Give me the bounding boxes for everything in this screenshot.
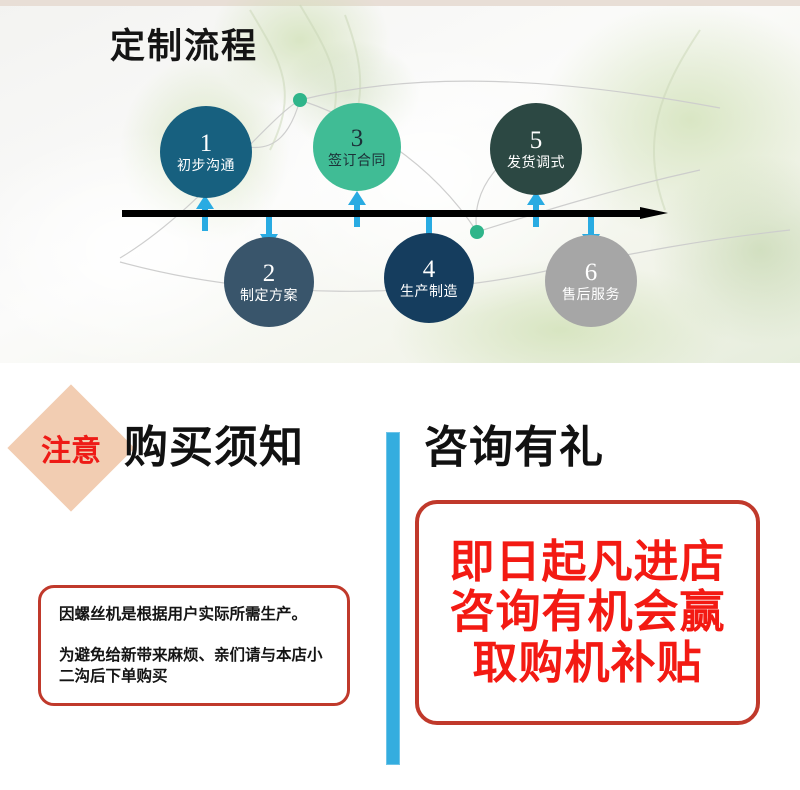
promo-line-1: 即日起凡进店 (449, 537, 725, 587)
accent-dot-2 (470, 225, 484, 239)
process-flow-panel: 定制流程 1 初步沟通 2 制定方案 3 签订合同 (0, 0, 800, 363)
promo-line-3: 取购机补贴 (472, 638, 702, 688)
flow-step-5-label: 发货调式 (507, 157, 565, 171)
flow-step-5-number: 5 (530, 128, 543, 153)
consult-promo-box: 即日起凡进店 咨询有机会赢 取购机补贴 (415, 500, 760, 725)
flow-step-1-label: 初步沟通 (177, 160, 235, 174)
flow-section-title: 定制流程 (110, 18, 258, 69)
consult-section-heading: 咨询有礼 (424, 411, 604, 475)
flow-step-3-number: 3 (351, 126, 364, 151)
flow-step-2-number: 2 (263, 261, 276, 286)
flow-step-4-number: 4 (423, 257, 436, 282)
promo-line-2: 咨询有机会赢 (449, 587, 725, 637)
notice-line-2: 为避免给新带来麻烦、亲们请与本店小二沟后下单购买 (59, 645, 333, 687)
timeline-arrow (122, 207, 668, 219)
notice-badge-label: 注意 (26, 403, 116, 493)
flow-step-2[interactable]: 2 制定方案 (224, 237, 314, 327)
flow-step-6[interactable]: 6 售后服务 (545, 235, 637, 327)
flow-step-6-label: 售后服务 (562, 289, 620, 303)
flow-step-4[interactable]: 4 生产制造 (384, 233, 474, 323)
accent-dot-1 (293, 93, 307, 107)
flow-step-3[interactable]: 3 签订合同 (313, 103, 401, 191)
flow-step-2-label: 制定方案 (240, 290, 298, 304)
purchase-notice-box: 因螺丝机是根据用户实际所需生产。 为避免给新带来麻烦、亲们请与本店小二沟后下单购… (38, 585, 350, 706)
notice-line-1: 因螺丝机是根据用户实际所需生产。 (59, 604, 333, 625)
purchase-section-heading: 购买须知 (124, 411, 304, 475)
flow-step-1[interactable]: 1 初步沟通 (160, 106, 252, 198)
flow-step-1-number: 1 (200, 131, 213, 156)
flow-step-3-label: 签订合同 (328, 155, 386, 169)
flow-step-5[interactable]: 5 发货调式 (490, 103, 582, 195)
flow-step-4-label: 生产制造 (400, 286, 458, 300)
flow-step-6-number: 6 (585, 260, 598, 285)
consult-accent-bar (386, 432, 400, 765)
